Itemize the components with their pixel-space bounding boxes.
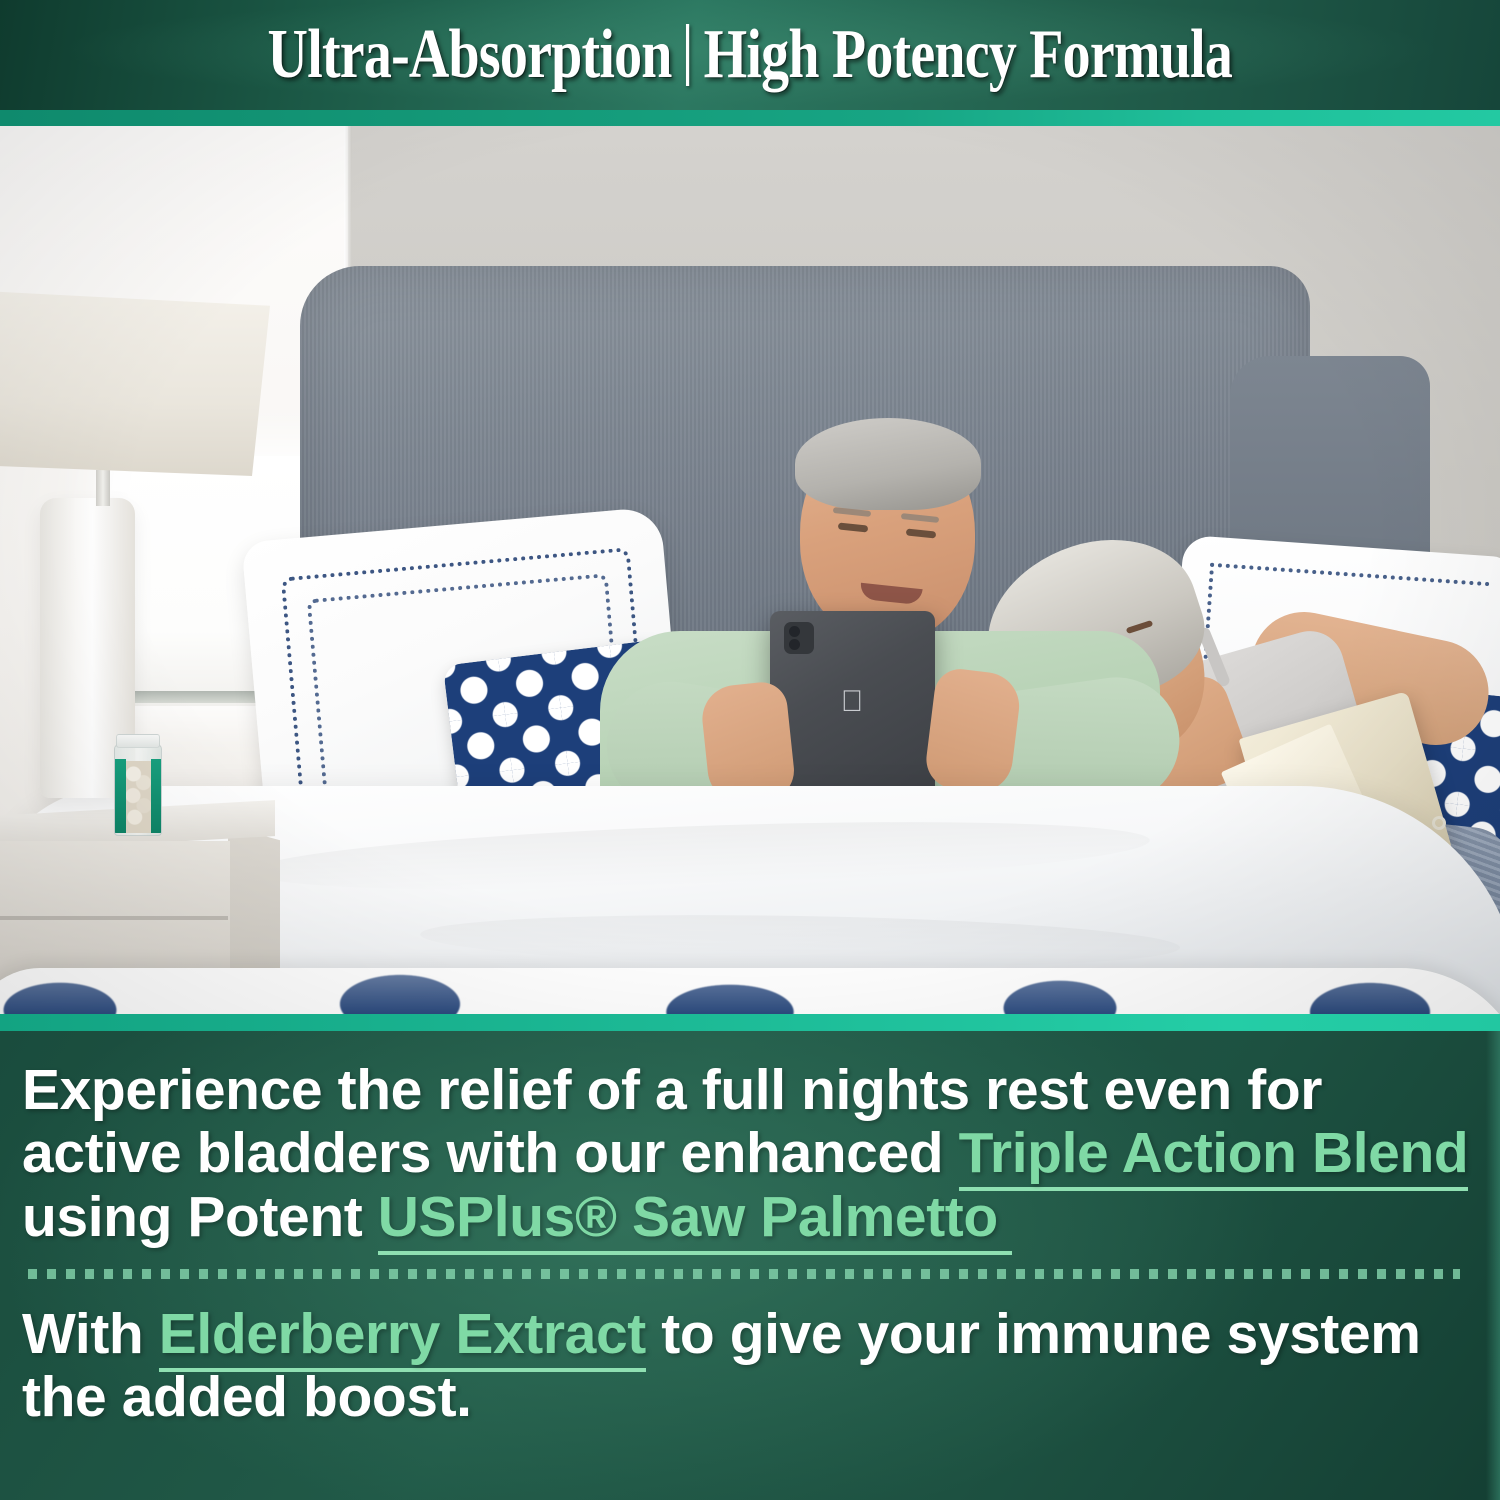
marketing-infographic: Ultra-Absorption High Potency Formula (0, 0, 1500, 1500)
title-divider-icon (686, 24, 689, 86)
paragraph-one-segment-2: using Potent (22, 1185, 378, 1249)
supplement-bottle (114, 744, 162, 836)
header-banner: Ultra-Absorption High Potency Formula (0, 0, 1500, 110)
man-hair (795, 418, 981, 510)
highlight-triple-action-blend: Triple Action Blend (959, 1121, 1469, 1191)
lamp-neck (96, 470, 110, 506)
paragraph-two-segment-1: With (22, 1302, 159, 1366)
header-title: Ultra-Absorption High Potency Formula (268, 20, 1232, 90)
bottle-cap (116, 734, 160, 748)
tablet-camera-icon (784, 622, 814, 654)
header-title-right: High Potency Formula (704, 20, 1232, 90)
nightstand-drawer-seam (0, 916, 228, 920)
hero-photo:  (0, 126, 1500, 1014)
paragraph-one: Experience the relief of a full nights r… (22, 1059, 1484, 1249)
highlight-elderberry-extract: Elderberry Extract (159, 1302, 646, 1372)
blanket-shading (0, 968, 1500, 1014)
bottle-capsules (126, 761, 151, 833)
header-title-left: Ultra-Absorption (268, 20, 672, 90)
paragraph-two: With Elderberry Extract to give your imm… (22, 1303, 1484, 1430)
highlight-usplus-saw-palmetto: USPlus® Saw Palmetto (378, 1185, 1012, 1255)
lamp-shade (0, 291, 270, 476)
copy-panel: Experience the relief of a full nights r… (0, 1031, 1500, 1500)
bottle-label-right (151, 759, 162, 833)
dotted-divider (28, 1269, 1460, 1279)
accent-bar-bottom (0, 1014, 1500, 1031)
apple-logo-icon:  (839, 688, 865, 718)
bottle-label-left (115, 759, 126, 833)
accent-bar-top (0, 110, 1500, 126)
ikat-blanket (0, 968, 1500, 1014)
